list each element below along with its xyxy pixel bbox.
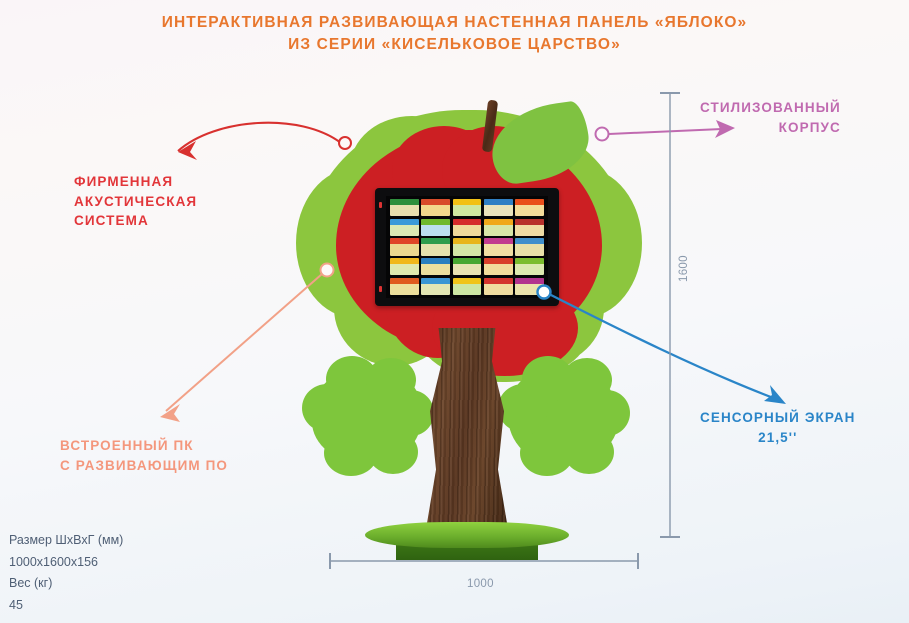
app-tile-thumbnail <box>390 284 419 295</box>
app-tile[interactable] <box>390 199 419 216</box>
bush-left <box>312 368 422 464</box>
app-tile[interactable] <box>515 219 544 236</box>
page-title: ИНТЕРАКТИВНАЯ РАЗВИВАЮЩАЯ НАСТЕННАЯ ПАНЕ… <box>0 12 909 56</box>
app-tile[interactable] <box>515 199 544 216</box>
product-illustration <box>270 92 660 562</box>
app-tile[interactable] <box>453 258 482 275</box>
bush-blob <box>368 430 418 474</box>
app-tile[interactable] <box>515 258 544 275</box>
app-tile[interactable] <box>484 238 513 255</box>
app-tile[interactable] <box>421 219 450 236</box>
app-tile[interactable] <box>453 219 482 236</box>
app-tile[interactable] <box>390 238 419 255</box>
tree-trunk <box>424 328 510 536</box>
app-tile[interactable] <box>515 278 544 295</box>
callout-label-touchscreen: СЕНСОРНЫЙ ЭКРАН 21,5'' <box>700 408 856 447</box>
bush-blob <box>564 430 614 474</box>
app-tile[interactable] <box>390 278 419 295</box>
bush-right <box>508 368 618 464</box>
app-tile-thumbnail <box>515 284 544 295</box>
app-tile-thumbnail <box>390 264 419 275</box>
app-tile[interactable] <box>390 258 419 275</box>
height-dimension-label: 1600 <box>678 255 690 282</box>
app-tile-thumbnail <box>390 244 419 255</box>
status-led-bottom <box>379 286 382 292</box>
app-tile[interactable] <box>484 199 513 216</box>
pc-line-2: С РАЗВИВАЮЩИМ ПО <box>60 458 228 473</box>
trunk-wood-grain <box>424 328 510 536</box>
app-tile-grid[interactable] <box>386 196 548 298</box>
spec-weight-value: 45 <box>9 595 123 617</box>
pc-line-1: ВСТРОЕННЫЙ ПК <box>60 438 194 453</box>
app-tile-thumbnail <box>515 244 544 255</box>
acoustics-line-2: АКУСТИЧЕСКАЯ <box>74 194 197 209</box>
app-tile-thumbnail <box>453 264 482 275</box>
app-tile[interactable] <box>453 278 482 295</box>
screen-display[interactable] <box>386 196 548 298</box>
acoustics-arrowhead <box>178 141 197 160</box>
screen-arrowhead <box>764 385 786 404</box>
title-line-1: ИНТЕРАКТИВНАЯ РАЗВИВАЮЩАЯ НАСТЕННАЯ ПАНЕ… <box>0 12 909 34</box>
app-tile-thumbnail <box>484 244 513 255</box>
app-tile-thumbnail <box>515 205 544 216</box>
app-tile-thumbnail <box>390 225 419 236</box>
app-tile-thumbnail <box>484 264 513 275</box>
app-tile-thumbnail <box>453 225 482 236</box>
app-tile[interactable] <box>421 238 450 255</box>
app-tile[interactable] <box>484 258 513 275</box>
acoustics-line-1: ФИРМЕННАЯ <box>74 174 173 189</box>
callout-label-builtin-pc: ВСТРОЕННЫЙ ПК С РАЗВИВАЮЩИМ ПО <box>60 436 228 475</box>
app-tile[interactable] <box>484 219 513 236</box>
spec-size-value: 1000x1600x156 <box>9 552 123 574</box>
base-platform <box>365 522 569 548</box>
app-tile[interactable] <box>484 278 513 295</box>
spec-weight-caption: Вес (кг) <box>9 573 123 595</box>
body-line-1: СТИЛИЗОВАННЫЙ <box>700 100 841 115</box>
app-tile[interactable] <box>453 238 482 255</box>
app-tile[interactable] <box>515 238 544 255</box>
app-tile-thumbnail <box>515 264 544 275</box>
bush-blob <box>584 390 630 436</box>
app-tile[interactable] <box>453 199 482 216</box>
app-tile-thumbnail <box>421 225 450 236</box>
callout-label-acoustics: ФИРМЕННАЯ АКУСТИЧЕСКАЯ СИСТЕМА <box>74 172 197 231</box>
title-line-2: ИЗ СЕРИИ «КИСЕЛЬКОВОЕ ЦАРСТВО» <box>0 34 909 56</box>
app-tile-thumbnail <box>421 244 450 255</box>
app-tile-thumbnail <box>453 244 482 255</box>
width-dimension-label: 1000 <box>467 578 494 590</box>
app-tile[interactable] <box>421 199 450 216</box>
app-tile[interactable] <box>390 219 419 236</box>
app-tile-thumbnail <box>453 284 482 295</box>
status-led-top <box>379 202 382 208</box>
app-tile-thumbnail <box>421 284 450 295</box>
touchscreen-panel[interactable] <box>375 188 559 306</box>
app-tile[interactable] <box>421 278 450 295</box>
app-tile-thumbnail <box>484 225 513 236</box>
app-tile[interactable] <box>421 258 450 275</box>
callout-label-styled-body: СТИЛИЗОВАННЫЙ КОРПУС <box>700 98 841 137</box>
app-tile-thumbnail <box>515 225 544 236</box>
app-tile-thumbnail <box>453 205 482 216</box>
app-tile-thumbnail <box>421 264 450 275</box>
acoustics-line-3: СИСТЕМА <box>74 213 149 228</box>
screen-line-2: 21,5'' <box>700 428 856 448</box>
spec-size-caption: Размер ШхВхГ (мм) <box>9 530 123 552</box>
illustration-canvas: ИНТЕРАКТИВНАЯ РАЗВИВАЮЩАЯ НАСТЕННАЯ ПАНЕ… <box>0 0 909 623</box>
specs-block: Размер ШхВхГ (мм) 1000x1600x156 Вес (кг)… <box>9 530 123 616</box>
app-tile-thumbnail <box>390 205 419 216</box>
body-line-2: КОРПУС <box>700 118 841 138</box>
app-tile-thumbnail <box>484 284 513 295</box>
app-tile-thumbnail <box>484 205 513 216</box>
app-tile-thumbnail <box>421 205 450 216</box>
pc-arrowhead <box>160 404 180 422</box>
screen-line-1: СЕНСОРНЫЙ ЭКРАН <box>700 410 856 425</box>
